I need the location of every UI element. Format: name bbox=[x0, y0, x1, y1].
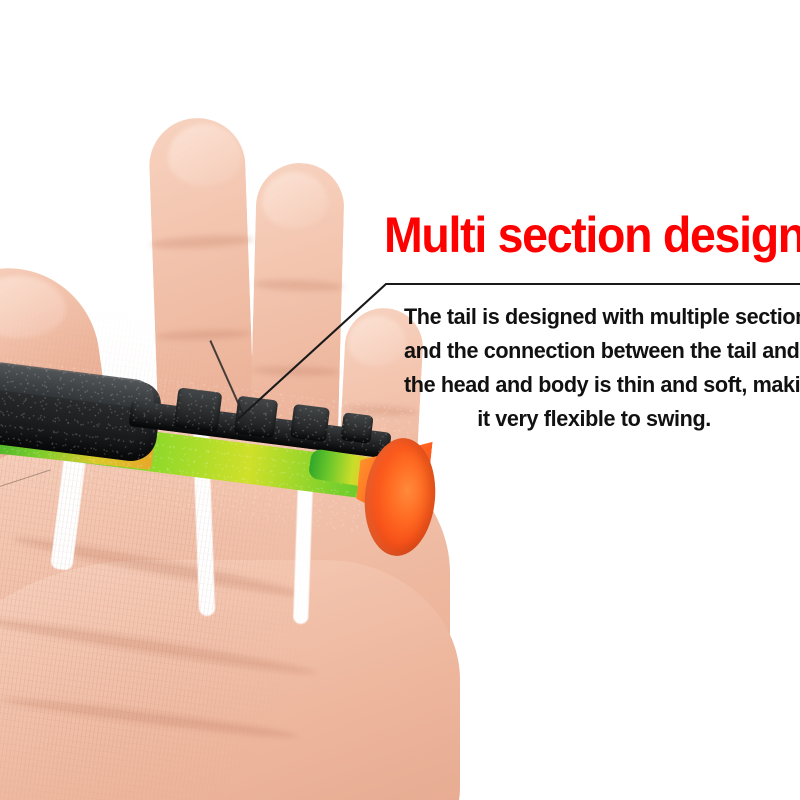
lure-segment bbox=[174, 387, 223, 432]
callout-body-line-4: it very flexible to swing. bbox=[404, 402, 784, 436]
callout-body-line-1: The tail is designed with multiple secti… bbox=[404, 300, 784, 334]
callout-body-line-2: and the connection between the tail and bbox=[404, 334, 784, 368]
callout-body-line-3: the head and body is thin and soft, maki… bbox=[404, 368, 784, 402]
lure-segment bbox=[234, 396, 278, 439]
lure-segment bbox=[340, 412, 373, 444]
callout-title: Multi section design bbox=[384, 210, 800, 260]
product-photo-canvas: Multi section design The tail is designe… bbox=[0, 0, 800, 800]
callout-body: The tail is designed with multiple secti… bbox=[404, 300, 784, 436]
lure-segment bbox=[290, 404, 330, 442]
